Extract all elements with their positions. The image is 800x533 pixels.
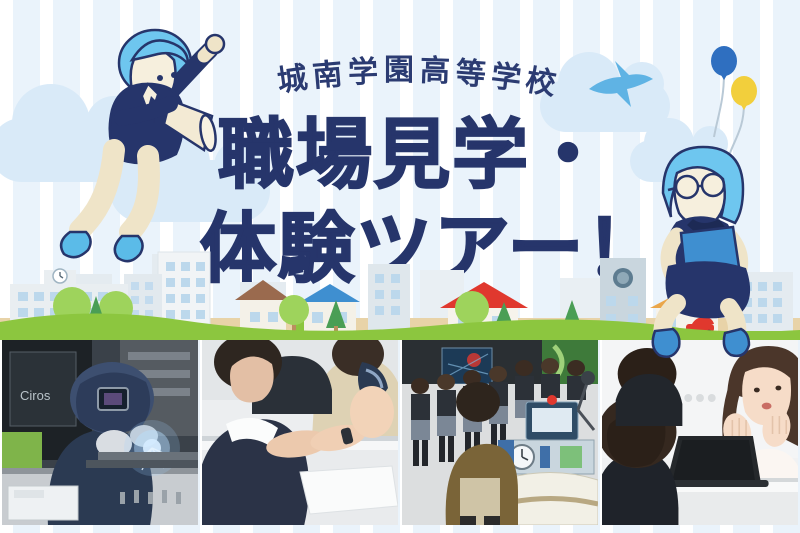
character-girl-with-laptop — [625, 135, 790, 360]
photo-desk-discussion — [202, 340, 398, 525]
photo-welding-workshop: Ciros — [2, 340, 198, 525]
school-name-char: 等 — [454, 48, 493, 94]
school-name-char: 高 — [419, 45, 457, 90]
page-title-line-1: 職場見学・ — [218, 118, 608, 194]
bird-icon — [585, 55, 655, 115]
svg-text:Ciros: Ciros — [20, 388, 51, 403]
photo-office-presentation — [602, 340, 798, 525]
photo-strip: Ciros — [0, 340, 800, 533]
school-name-char: 学 — [347, 46, 385, 91]
school-name: 城南学園高等学校 — [250, 48, 590, 98]
school-name-char: 城 — [274, 52, 316, 101]
school-name-char: 園 — [384, 45, 420, 89]
school-name-char: 南 — [310, 49, 350, 96]
photo-tv-studio-tour — [402, 340, 598, 525]
poster-root: 城南学園高等学校 職場見学・ 体験ツアー！ — [0, 0, 800, 533]
school-name-char: 校 — [523, 55, 566, 105]
